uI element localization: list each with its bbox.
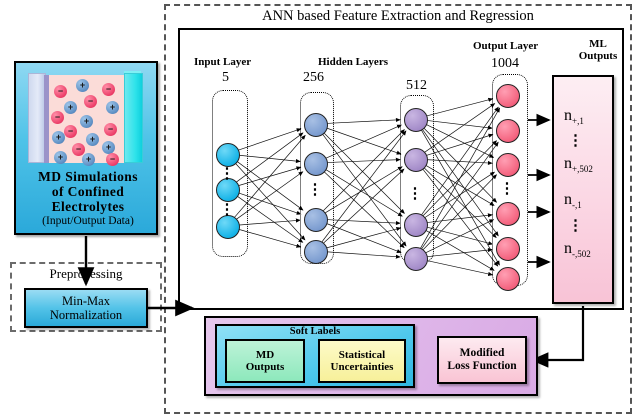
md-card-label-line2: of Confined bbox=[16, 184, 160, 199]
md-simulation-card: − + − − + + − + − − + + − + − + + MD Sim… bbox=[14, 61, 158, 235]
ml-output-sub: -,502 bbox=[572, 249, 591, 259]
anion: − bbox=[102, 83, 115, 96]
hidden1-node bbox=[304, 208, 328, 232]
cation: + bbox=[54, 151, 67, 164]
output-node bbox=[496, 153, 520, 177]
ml-output-base: n bbox=[564, 107, 572, 124]
minmax-line1: Min-Max bbox=[50, 294, 122, 308]
md-card-label-line3: Electrolytes bbox=[16, 199, 160, 214]
ml-outputs-title: ML Outputs bbox=[565, 38, 631, 62]
hidden2-node bbox=[404, 213, 428, 237]
ml-outputs-ellipsis: ⋮ bbox=[568, 139, 582, 143]
input-node bbox=[216, 143, 240, 167]
ml-outputs-panel: n+,1 ⋮ n+,502 n-,1 ⋮ n-,502 bbox=[552, 75, 614, 304]
ml-output-sub: +,502 bbox=[572, 164, 593, 174]
cation: + bbox=[76, 79, 89, 92]
modified-loss-function-block: Modified Loss Function bbox=[437, 336, 527, 384]
hidden2-node bbox=[404, 148, 428, 172]
output-layer-ellipsis: ⋮ bbox=[496, 187, 518, 191]
ml-output-sub: -,1 bbox=[572, 200, 582, 210]
hidden-layers-title: Hidden Layers bbox=[318, 56, 388, 68]
hidden1-layer-ellipsis: ⋮ bbox=[304, 188, 326, 192]
anion: − bbox=[51, 111, 64, 124]
output-layer-count: 1004 bbox=[491, 56, 519, 72]
input-layer-ellipsis: ⋮ bbox=[216, 172, 238, 176]
loss-fn-line1: Modified bbox=[447, 347, 516, 360]
ml-output-sub: +,1 bbox=[572, 116, 584, 126]
left-wall-edge bbox=[44, 75, 49, 163]
cation: + bbox=[64, 101, 77, 114]
ml-output-item: n+,1 bbox=[564, 107, 584, 126]
hidden2-node bbox=[404, 247, 428, 271]
soft-labels-title: Soft Labels bbox=[215, 326, 415, 337]
cation: + bbox=[106, 101, 119, 114]
output-node bbox=[496, 84, 520, 108]
ml-output-item: n-,502 bbox=[564, 240, 591, 259]
output-layer-title: Output Layer bbox=[473, 40, 538, 52]
input-layer-count: 5 bbox=[222, 70, 229, 86]
ml-outputs-title-line1: ML bbox=[565, 38, 631, 50]
cation: + bbox=[86, 133, 99, 146]
md-outputs-line2: Outputs bbox=[246, 361, 285, 373]
statistical-line2: Uncertainties bbox=[331, 361, 394, 373]
hidden1-layer-count: 256 bbox=[303, 70, 324, 86]
ml-output-item: n+,502 bbox=[564, 155, 593, 174]
hidden2-node bbox=[404, 108, 428, 132]
ml-output-base: n bbox=[564, 155, 572, 172]
loss-fn-line2: Loss Function bbox=[447, 360, 516, 373]
ml-output-base: n bbox=[564, 191, 572, 208]
ml-output-item: n-,1 bbox=[564, 191, 582, 210]
statistical-uncertainties-block: Statistical Uncertainties bbox=[318, 339, 406, 383]
hidden1-node bbox=[304, 240, 328, 264]
ml-outputs-title-line2: Outputs bbox=[565, 50, 631, 62]
right-wall bbox=[124, 73, 143, 163]
cation: + bbox=[82, 153, 95, 166]
anion: − bbox=[54, 85, 67, 98]
minmax-line2: Normalization bbox=[50, 308, 122, 322]
md-card-label: MD Simulations of Confined Electrolytes bbox=[16, 169, 160, 214]
md-card-sublabel: (Input/Output Data) bbox=[16, 215, 160, 227]
hidden1-node bbox=[304, 113, 328, 137]
hidden2-layer-count: 512 bbox=[406, 78, 427, 94]
anion: − bbox=[84, 95, 97, 108]
anion: − bbox=[104, 123, 117, 136]
ml-outputs-ellipsis: ⋮ bbox=[568, 224, 582, 228]
preprocessing-title: Preprocessing bbox=[10, 266, 162, 282]
output-node bbox=[496, 119, 520, 143]
hidden1-node bbox=[304, 152, 328, 176]
input-layer-ellipsis: ⋮ bbox=[216, 208, 238, 212]
min-max-normalization-block: Min-Max Normalization bbox=[24, 288, 148, 328]
ml-output-base: n bbox=[564, 240, 572, 257]
anion: − bbox=[106, 153, 119, 166]
output-node bbox=[496, 267, 520, 291]
cation: + bbox=[80, 115, 93, 128]
cation: + bbox=[52, 131, 65, 144]
input-node bbox=[216, 215, 240, 239]
md-outputs-block: MD Outputs bbox=[225, 339, 305, 383]
input-layer-title: Input Layer bbox=[194, 56, 251, 68]
output-node bbox=[496, 237, 520, 261]
md-simulation-illustration: − + − − + + − + − − + + − + − + + bbox=[24, 69, 150, 167]
statistical-line1: Statistical bbox=[331, 349, 394, 361]
output-node bbox=[496, 202, 520, 226]
hidden2-layer-ellipsis: ⋮ bbox=[404, 192, 426, 196]
ann-section-title: ANN based Feature Extraction and Regress… bbox=[170, 8, 626, 25]
md-outputs-line1: MD bbox=[246, 349, 285, 361]
anion: − bbox=[64, 125, 77, 138]
md-card-label-line1: MD Simulations bbox=[16, 169, 160, 184]
